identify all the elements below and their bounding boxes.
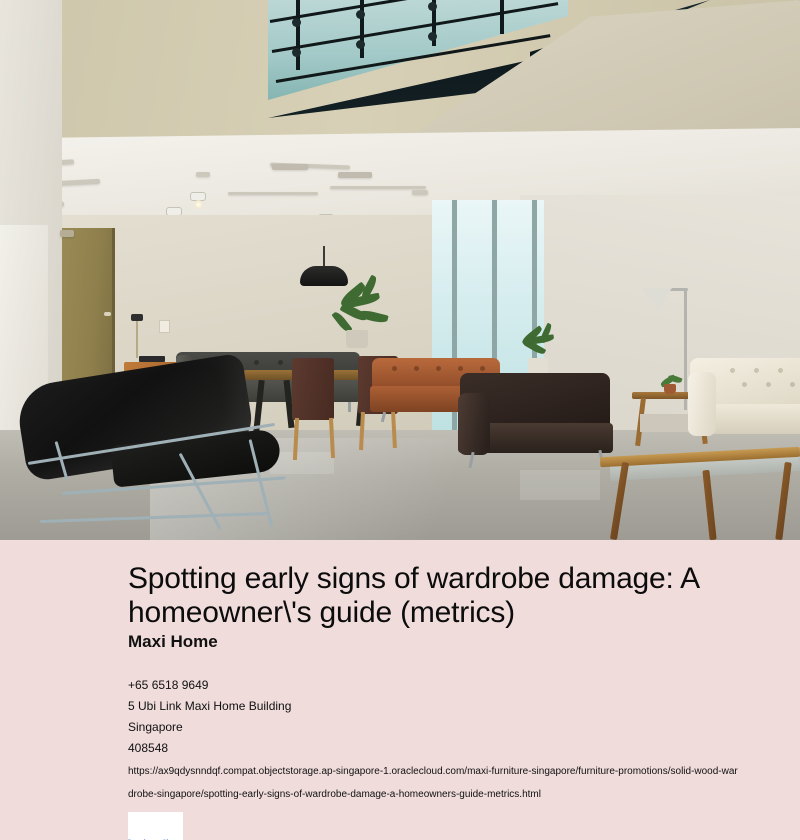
- contact-country: Singapore: [128, 717, 788, 738]
- balustrade-fitting: [292, 48, 301, 57]
- sofa-tuft: [730, 368, 735, 373]
- sofa-tuft: [742, 382, 747, 387]
- contact-address: 5 Ubi Link Maxi Home Building: [128, 696, 788, 717]
- logo-card: l Furniture Singap: [128, 812, 183, 840]
- balustrade-fitting: [356, 40, 365, 49]
- balustrade-post: [360, 0, 364, 58]
- desk-lamp-head: [131, 314, 143, 321]
- door-handle: [104, 312, 111, 316]
- ceiling-track: [330, 186, 426, 189]
- page-title: Spotting early signs of wardrobe damage:…: [128, 562, 788, 630]
- balustrade-post: [296, 0, 300, 70]
- sofa-tuft: [480, 366, 485, 371]
- sofa-tuft: [392, 366, 397, 371]
- article-content: Spotting early signs of wardrobe damage:…: [0, 540, 800, 840]
- ceiling-vent: [338, 172, 372, 178]
- wall-switch: [159, 320, 170, 333]
- dark-leather-armchair-arm: [458, 393, 490, 455]
- spotlight-beam: [194, 200, 203, 209]
- contact-postal-code: 408548: [128, 738, 788, 759]
- source-url-line-2: drobe-singapore/spotting-early-signs-of-…: [128, 783, 800, 806]
- hero-image: [0, 0, 800, 540]
- floor-highlight: [270, 452, 334, 474]
- sideboard-object: [139, 356, 165, 362]
- contact-phone: +65 6518 9649: [128, 675, 788, 696]
- sofa-tuft: [458, 366, 463, 371]
- plant-pot: [664, 384, 676, 394]
- window-mullion: [452, 200, 457, 450]
- balustrade-fitting: [356, 10, 365, 19]
- pendant-rod: [323, 246, 325, 268]
- balustrade-post: [500, 0, 504, 34]
- recessed-light: [412, 190, 428, 195]
- source-url[interactable]: https://ax9qdysnndqf.compat.objectstorag…: [128, 760, 800, 806]
- sofa-tuft: [414, 366, 419, 371]
- ceiling-track: [228, 192, 318, 195]
- floor-highlight: [520, 470, 600, 500]
- pendant-lamp: [300, 266, 348, 286]
- floor-lamp-shade: [642, 288, 672, 310]
- sofa-tuft: [778, 368, 783, 373]
- sofa-tuft: [754, 368, 759, 373]
- dining-chair-back: [292, 358, 334, 420]
- sofa-tuft: [436, 366, 441, 371]
- door-vent: [60, 230, 74, 237]
- sofa-tuft: [790, 382, 795, 387]
- brand-name: Maxi Home: [128, 632, 218, 652]
- contact-block: +65 6518 9649 5 Ubi Link Maxi Home Build…: [128, 675, 788, 759]
- plant-pot: [346, 330, 368, 348]
- desk-lamp-arm: [136, 318, 138, 358]
- cream-tufted-sofa-arm: [688, 372, 716, 436]
- balustrade-fitting: [428, 2, 437, 11]
- sofa-tuft: [254, 360, 259, 365]
- source-url-line-1: https://ax9qdysnndqf.compat.objectstorag…: [128, 760, 800, 783]
- sofa-leg: [348, 402, 351, 412]
- recessed-light: [196, 172, 210, 177]
- balustrade-fitting: [292, 18, 301, 27]
- sofa-tuft: [766, 382, 771, 387]
- balustrade-fitting: [428, 32, 437, 41]
- sofa-tuft: [278, 360, 283, 365]
- ceiling-vent: [272, 164, 308, 170]
